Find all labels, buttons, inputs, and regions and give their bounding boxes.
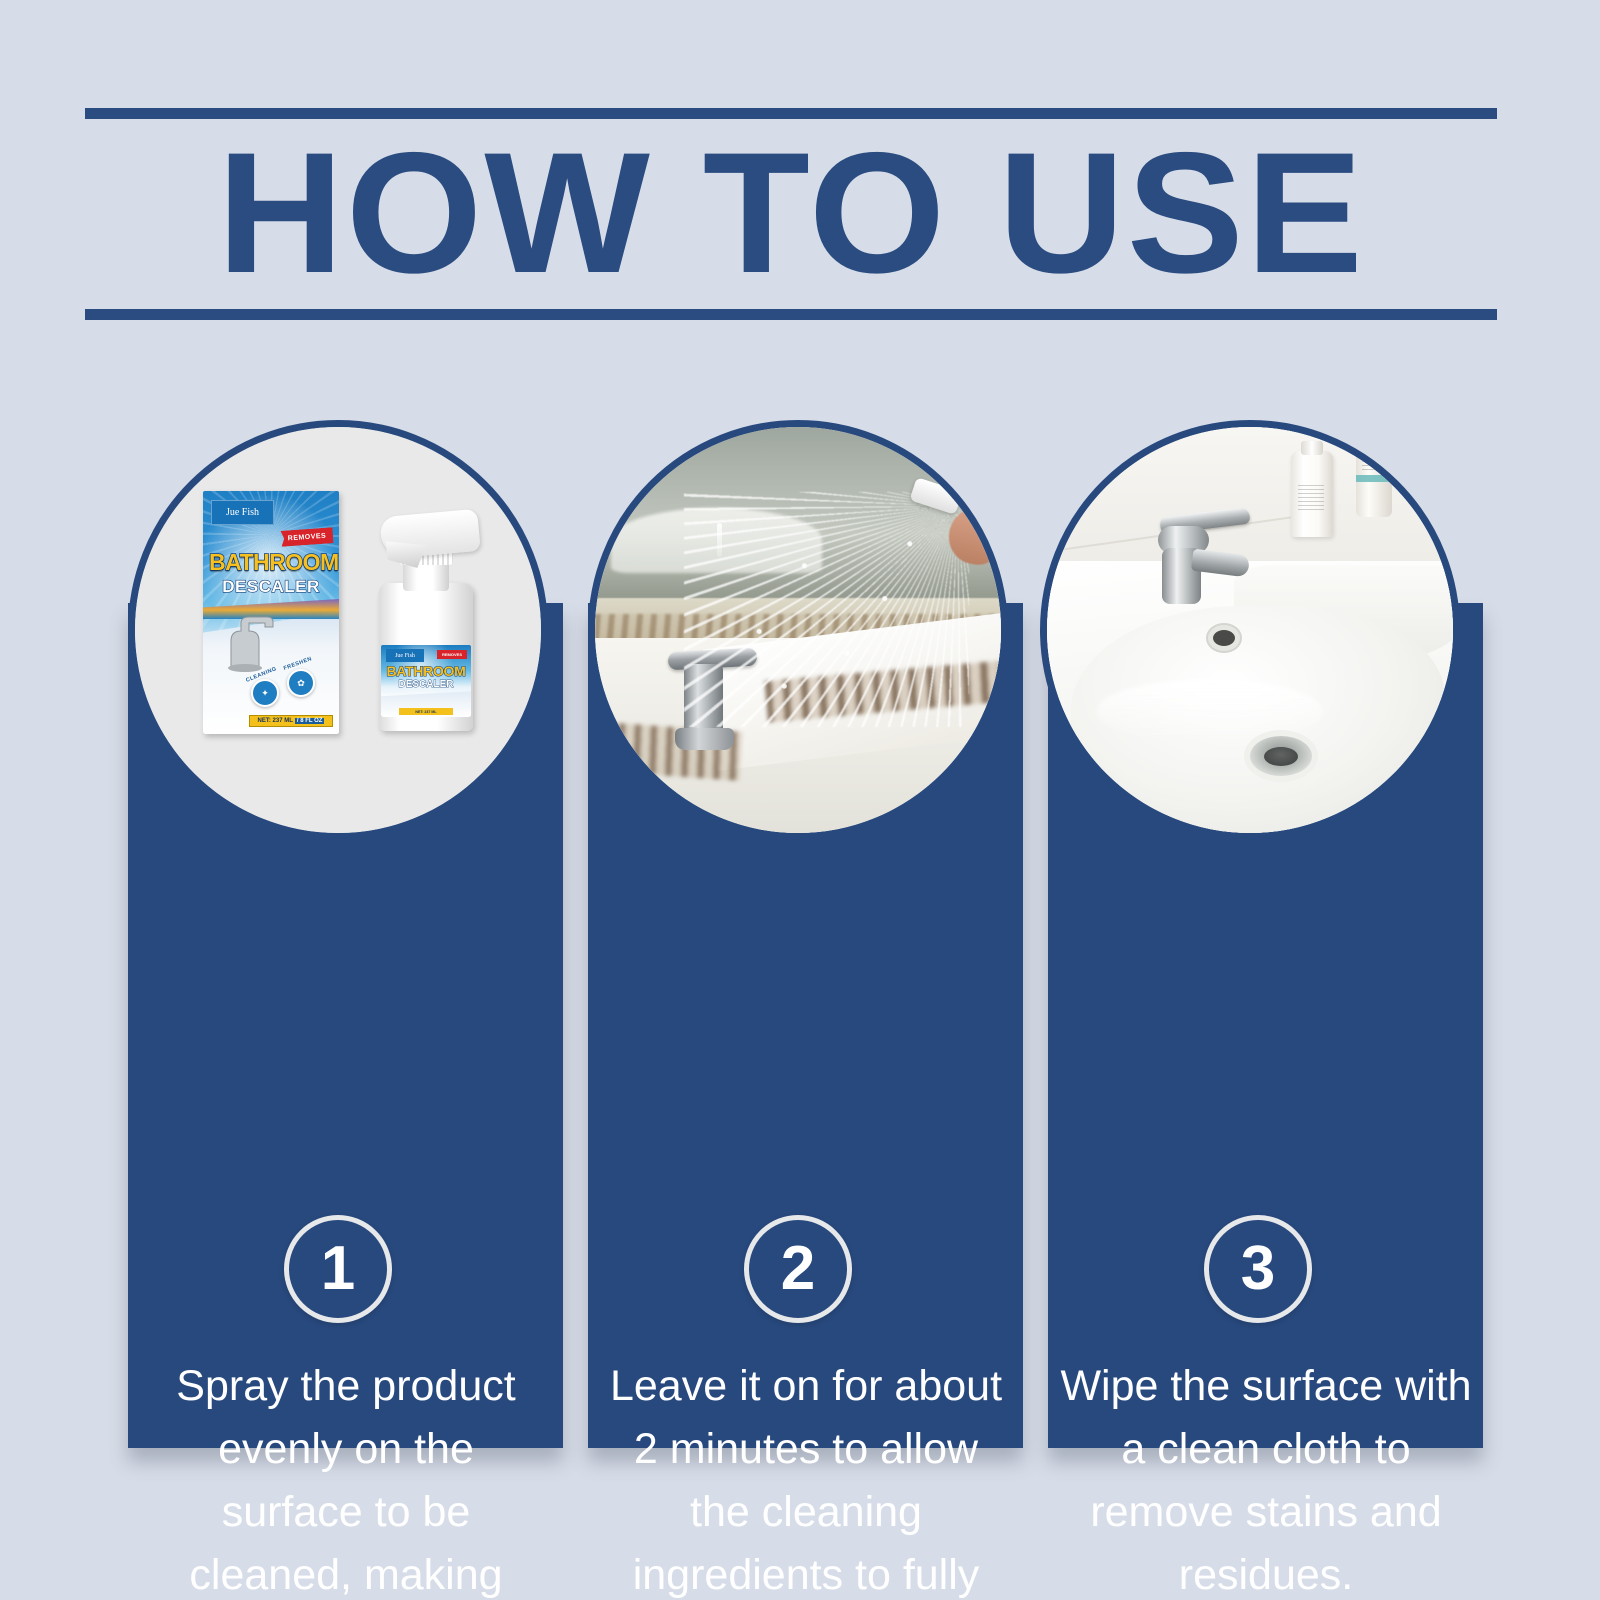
spray-action-photo (595, 427, 1001, 833)
step-image-frame-1: Jue Fish REMOVES BATHROOM DESCALER CLEAN… (128, 420, 548, 840)
box-net-weight: NET: 237 ML / 8 FL OZ (249, 715, 333, 727)
step-number-badge-1: 1 (284, 1215, 392, 1323)
bottle-name-line2: DESCALER (381, 679, 471, 690)
header-rule-bottom (85, 309, 1497, 320)
box-faucet-icon (221, 611, 277, 673)
bottle-cap-left (1301, 441, 1323, 455)
leaf-icon: ✿ (287, 669, 315, 697)
spray-bottle: Jue Fish REMOVES BATHROOM DESCALER NET: … (373, 495, 479, 731)
box-name-line2: DESCALER (209, 577, 333, 597)
net-imperial: / 8 FL OZ (295, 718, 325, 724)
sparkle-icon: ✦ (251, 679, 279, 707)
toiletry-bottle-right (1356, 439, 1392, 517)
step-number-badge-2: 2 (744, 1215, 852, 1323)
bottle-brand-tag: Jue Fish (386, 649, 424, 662)
chrome-faucet (1153, 512, 1250, 642)
faucet-base (675, 728, 734, 750)
spray-droplets (709, 500, 961, 719)
bottle-removes-ribbon: REMOVES (437, 650, 467, 659)
net-metric: NET: 237 ML (258, 718, 293, 724)
bottle-label: Jue Fish REMOVES BATHROOM DESCALER NET: … (381, 645, 471, 717)
bowl-highlight (1096, 679, 1323, 744)
step-number-badge-3: 3 (1204, 1215, 1312, 1323)
steps-row: Jue Fish REMOVES BATHROOM DESCALER CLEAN… (0, 420, 1600, 1500)
step-image-1: Jue Fish REMOVES BATHROOM DESCALER CLEAN… (128, 420, 548, 840)
drain-inner (1264, 747, 1298, 766)
step-image-frame-2 (588, 420, 1008, 840)
clean-sink-photo (1047, 427, 1453, 833)
page-title: HOW TO USE (71, 119, 1511, 309)
infographic-page: HOW TO USE Jue Fish RE (0, 0, 1600, 1600)
bottle-text-right (1362, 449, 1384, 471)
product-photo: Jue Fish REMOVES BATHROOM DESCALER CLEAN… (135, 427, 541, 833)
bottle-net-weight: NET: 237 ML (399, 708, 453, 715)
product-box: Jue Fish REMOVES BATHROOM DESCALER CLEAN… (203, 491, 339, 734)
bottle-name-line1: BATHROOM (381, 663, 471, 679)
toiletry-bottle-left (1291, 451, 1333, 537)
step-image-frame-3 (1040, 420, 1460, 840)
step-text-2: Leave it on for about 2 minutes to allow… (606, 1355, 1006, 1600)
bottle-text-left (1298, 485, 1324, 511)
header: HOW TO USE (85, 108, 1497, 320)
bottle-band-right (1356, 475, 1392, 482)
step-image-3 (1040, 420, 1460, 840)
step-image-2 (588, 420, 1008, 840)
step-text-3: Wipe the surface with a clean cloth to r… (1060, 1355, 1472, 1600)
box-name-line1: BATHROOM (209, 549, 333, 576)
box-brand-tag: Jue Fish (211, 500, 274, 525)
sink-drain (1250, 736, 1312, 776)
step-text-1: Spray the product evenly on the surface … (146, 1355, 546, 1600)
